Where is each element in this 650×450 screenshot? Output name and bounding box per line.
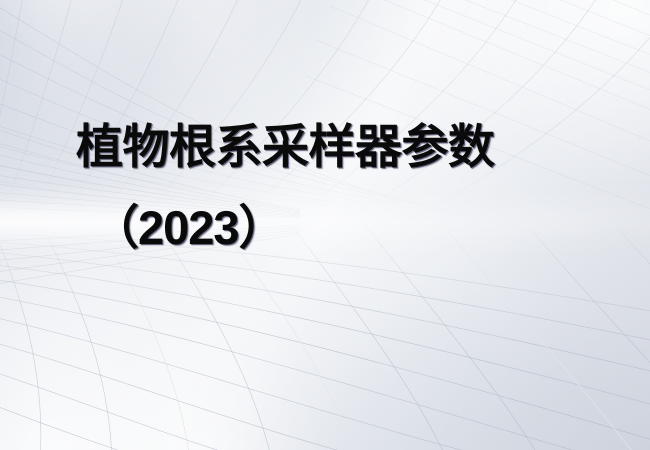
slide-canvas: 植物根系采样器参数 （2023）	[0, 0, 650, 450]
slide-subtitle-year: （2023）	[92, 204, 285, 251]
slide-text-block: 植物根系采样器参数 （2023）	[0, 0, 650, 450]
page-title: 植物根系采样器参数	[76, 123, 495, 170]
